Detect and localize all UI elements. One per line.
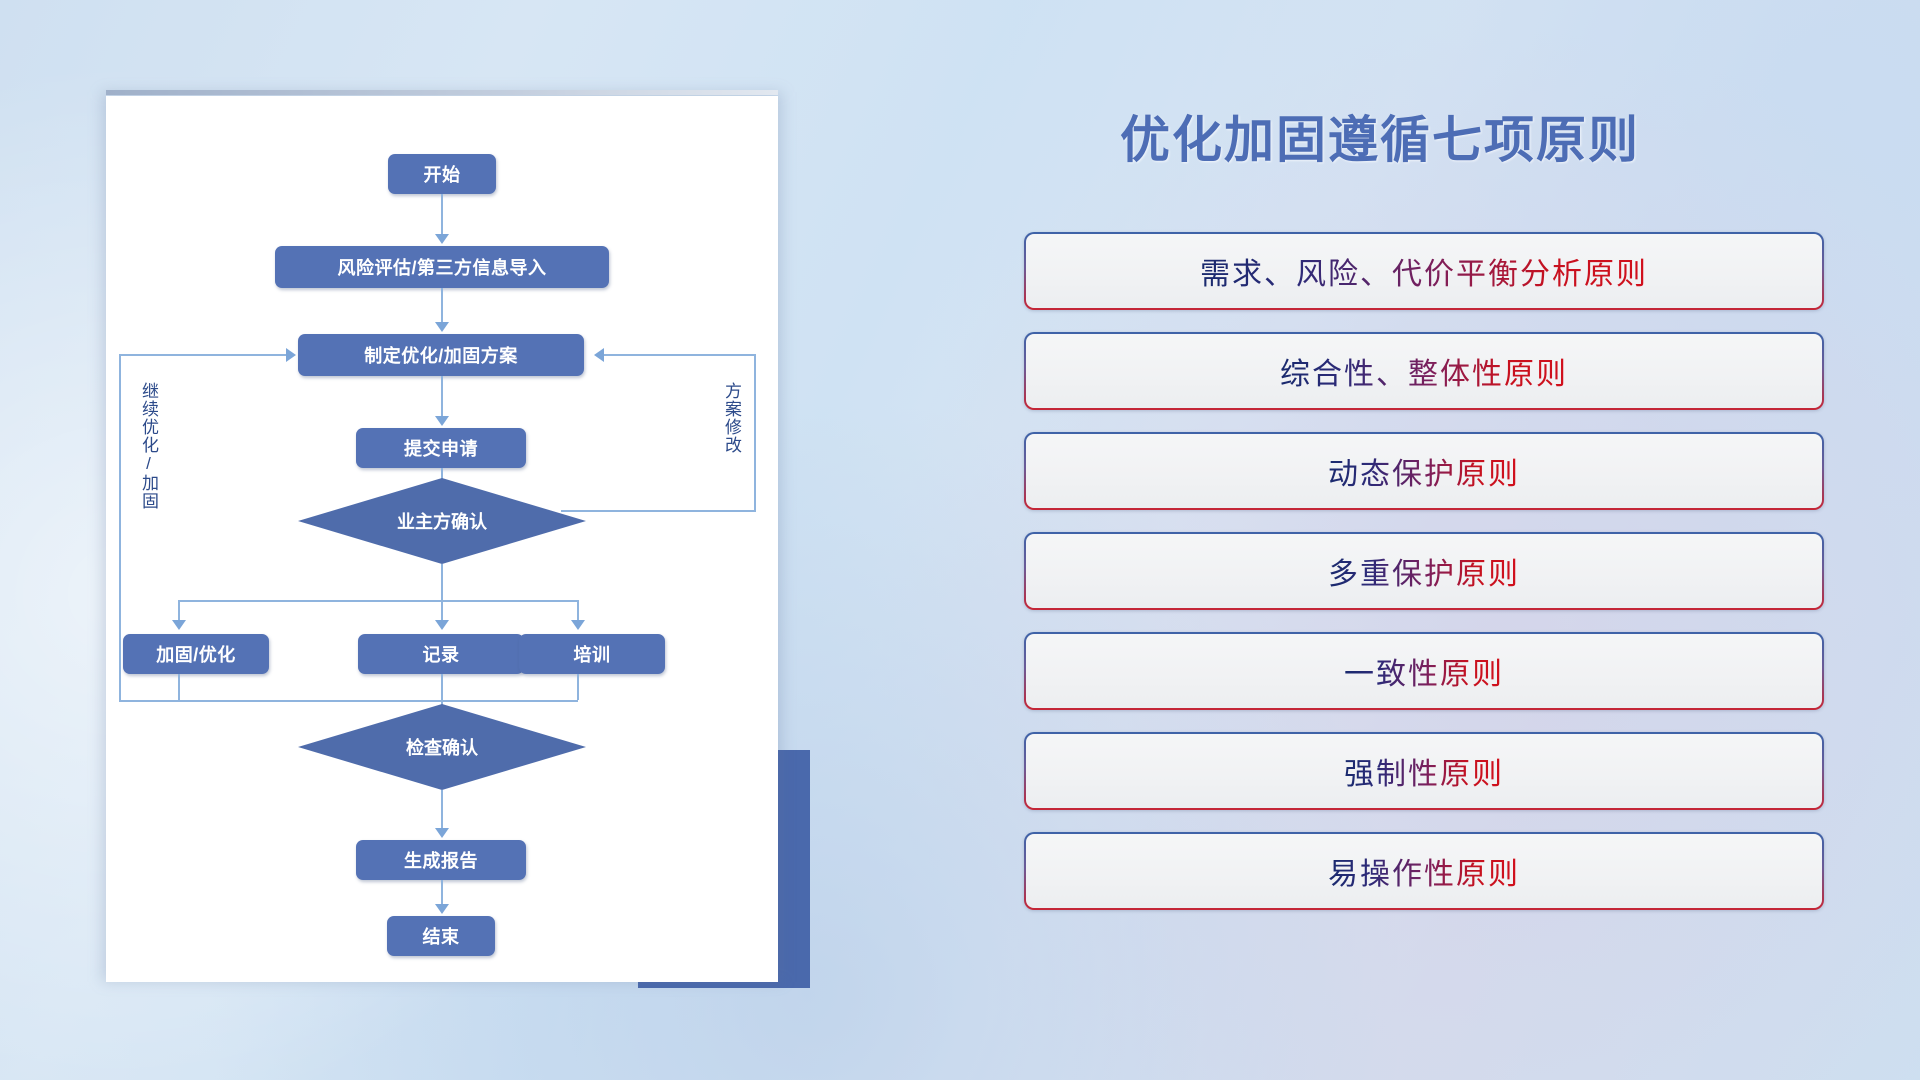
principle-card-inner: 多重保护原则 [1026,534,1822,608]
node-end-label: 结束 [423,923,460,949]
edge-label-left-loop: 继续优化/加固 [136,382,161,510]
node-plan-label: 制定优化/加固方案 [364,342,518,368]
principle-card-1[interactable]: 需求、风险、代价平衡分析原则 [1024,232,1824,310]
principle-label: 需求、风险、代价平衡分析原则 [1200,249,1648,293]
arrow-down-icon [435,322,449,332]
connector-right-loop-horizontal [604,354,756,356]
arrow-right-icon [286,348,296,362]
node-reinforce-label: 加固/优化 [156,641,236,667]
edge-label-right-loop: 方案修改 [719,382,744,454]
connector-risk-to-plan [441,288,443,326]
arrow-down-icon [435,416,449,426]
connector-check-to-report [441,790,443,832]
arrow-down-icon [172,620,186,630]
connector-merge-bar [178,700,578,702]
connector-left-loop-vertical [119,354,121,702]
node-record[interactable]: 记录 [358,634,524,674]
connector-fanout-bar [178,600,578,602]
arrow-down-icon [435,620,449,630]
node-owner-confirm[interactable]: 业主方确认 [298,478,586,564]
node-check-confirm[interactable]: 检查确认 [298,704,586,790]
arrow-down-icon [435,904,449,914]
principle-label: 多重保护原则 [1328,549,1520,593]
connector-plan-to-submit [441,376,443,420]
flowchart-panel: 开始 风险评估/第三方信息导入 制定优化/加固方案 [106,96,778,982]
principle-card-2[interactable]: 综合性、整体性原则 [1024,332,1824,410]
node-training-label: 培训 [574,641,611,667]
connector-owner-down [441,564,443,602]
principle-label: 综合性、整体性原则 [1280,349,1568,393]
node-risk-assessment-label: 风险评估/第三方信息导入 [338,254,547,280]
principle-card-inner: 易操作性原则 [1026,834,1822,908]
principle-card-inner: 一致性原则 [1026,634,1822,708]
arrow-left-icon [594,348,604,362]
principle-label: 一致性原则 [1344,649,1504,693]
node-report[interactable]: 生成报告 [356,840,526,880]
node-plan[interactable]: 制定优化/加固方案 [298,334,584,376]
principle-label: 动态保护原则 [1328,449,1520,493]
node-start-label: 开始 [424,161,461,187]
panel-top-edge [106,90,778,95]
page-title: 优化加固遵循七项原则 [1030,100,1730,172]
principle-card-6[interactable]: 强制性原则 [1024,732,1824,810]
principle-label: 强制性原则 [1344,749,1504,793]
node-end[interactable]: 结束 [387,916,495,956]
connector-merge-left [178,674,180,700]
connector-right-loop-vertical [754,354,756,512]
arrow-down-icon [435,828,449,838]
connector-start-to-risk [441,194,443,238]
node-risk-assessment[interactable]: 风险评估/第三方信息导入 [275,246,609,288]
connector-right-loop-bottom [561,510,756,512]
principle-card-inner: 需求、风险、代价平衡分析原则 [1026,234,1822,308]
arrow-down-icon [435,234,449,244]
principle-card-inner: 动态保护原则 [1026,434,1822,508]
node-reinforce[interactable]: 加固/优化 [123,634,269,674]
arrow-down-icon [571,620,585,630]
node-submit[interactable]: 提交申请 [356,428,526,468]
connector-left-loop-horizontal [119,354,288,356]
slide-canvas: 开始 风险评估/第三方信息导入 制定优化/加固方案 [0,0,1920,1080]
node-report-label: 生成报告 [404,847,478,873]
principle-card-inner: 强制性原则 [1026,734,1822,808]
principles-list: 需求、风险、代价平衡分析原则 综合性、整体性原则 动态保护原则 多重保护原则 一… [1024,232,1824,932]
node-submit-label: 提交申请 [404,435,478,461]
connector-merge-right [577,674,579,700]
principle-card-4[interactable]: 多重保护原则 [1024,532,1824,610]
principle-card-3[interactable]: 动态保护原则 [1024,432,1824,510]
flowchart: 开始 风险评估/第三方信息导入 制定优化/加固方案 [106,96,778,982]
node-owner-confirm-label: 业主方确认 [397,508,487,534]
principle-card-7[interactable]: 易操作性原则 [1024,832,1824,910]
node-start[interactable]: 开始 [388,154,496,194]
principle-card-inner: 综合性、整体性原则 [1026,334,1822,408]
principle-card-5[interactable]: 一致性原则 [1024,632,1824,710]
node-training[interactable]: 培训 [519,634,665,674]
node-check-confirm-label: 检查确认 [406,734,478,760]
principle-label: 易操作性原则 [1328,849,1520,893]
node-record-label: 记录 [423,641,460,667]
